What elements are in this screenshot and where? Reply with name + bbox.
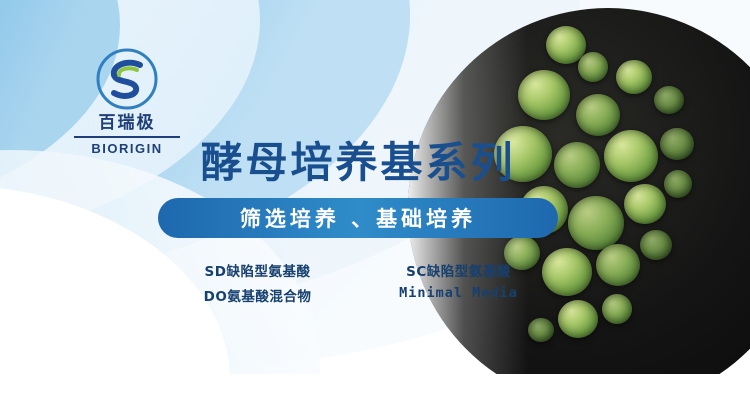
brand-name-cn: 百瑞极: [62, 114, 192, 133]
product-item: Minimal Media: [365, 285, 552, 305]
brand-divider: [74, 136, 180, 138]
biorigin-s-monogram-icon: [96, 48, 158, 110]
product-list: SD缺陷型氨基酸 SC缺陷型氨基酸 DO氨基酸混合物 Minimal Media: [158, 260, 558, 305]
product-item: SC缺陷型氨基酸: [365, 260, 552, 280]
product-item: DO氨基酸混合物: [164, 285, 351, 305]
subtitle-pill: 筛选培养 、基础培养: [158, 198, 558, 238]
subtitle-text: 筛选培养 、基础培养: [240, 203, 476, 233]
page-title: 酵母培养基系列: [158, 142, 558, 184]
product-item: SD缺陷型氨基酸: [164, 260, 351, 280]
yeast-media-banner: 百瑞极 BIORIGIN 酵母培养基系列 筛选培养 、基础培养 SD缺陷型氨基酸…: [0, 0, 750, 420]
bottom-white-band: [0, 374, 750, 420]
brand-logo: 百瑞极 BIORIGIN: [62, 48, 192, 156]
headline-block: 酵母培养基系列 筛选培养 、基础培养 SD缺陷型氨基酸 SC缺陷型氨基酸 DO氨…: [158, 142, 558, 305]
